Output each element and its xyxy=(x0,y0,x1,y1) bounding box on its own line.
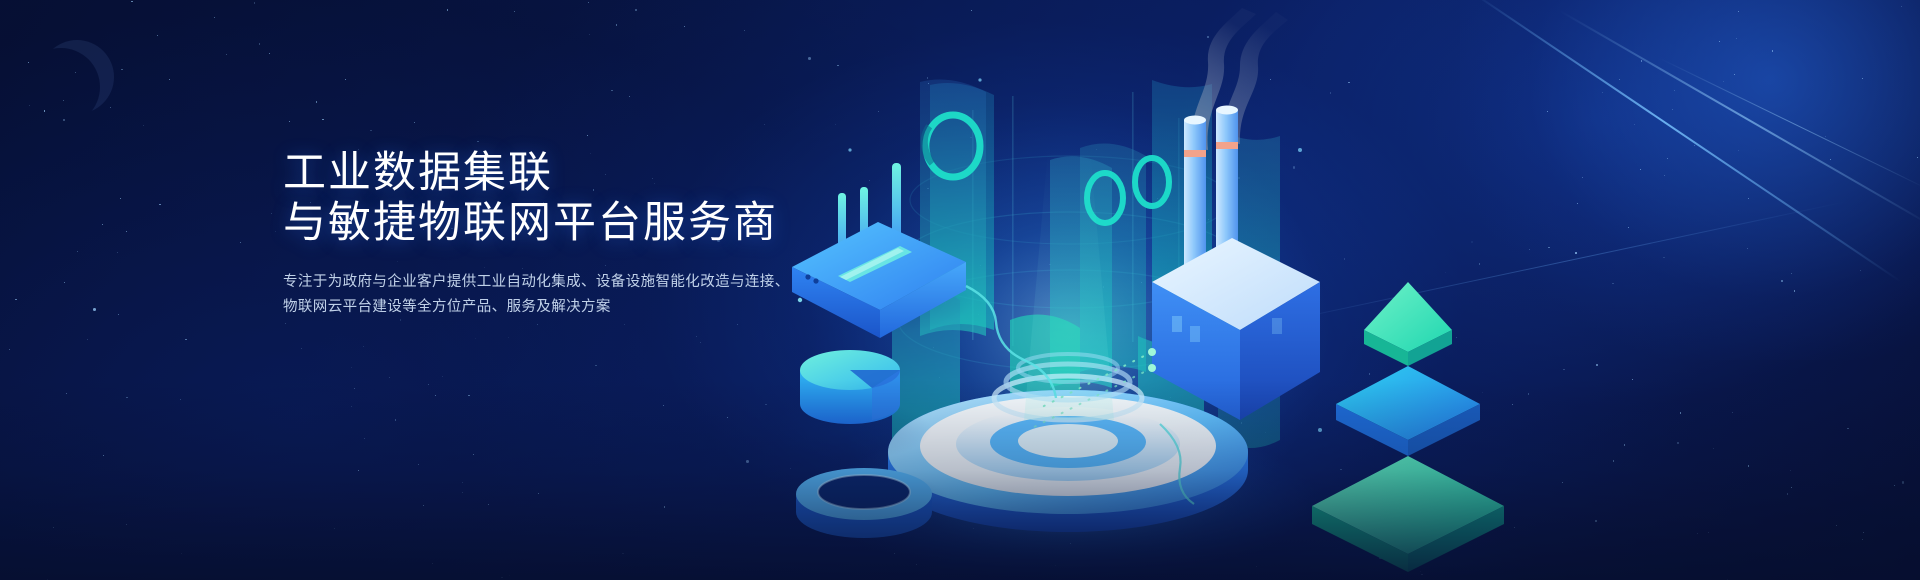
hero-copy: 工业数据集联 与敏捷物联网平台服务商 专注于为政府与企业客户提供工业自动化集成、… xyxy=(283,148,843,320)
headline-line-2: 与敏捷物联网平台服务商 xyxy=(283,198,843,248)
iot-illustration xyxy=(780,0,1920,580)
subtitle-line-1: 专注于为政府与企业客户提供工业自动化集成、设备设施智能化改造与连接、 xyxy=(283,270,843,295)
hero-banner: 工业数据集联 与敏捷物联网平台服务商 专注于为政府与企业客户提供工业自动化集成、… xyxy=(0,0,1920,580)
headline-line-1: 工业数据集联 xyxy=(283,148,843,198)
subtitle-line-2: 物联网云平台建设等全方位产品、服务及解决方案 xyxy=(283,295,843,320)
moon-crescent xyxy=(40,40,114,114)
